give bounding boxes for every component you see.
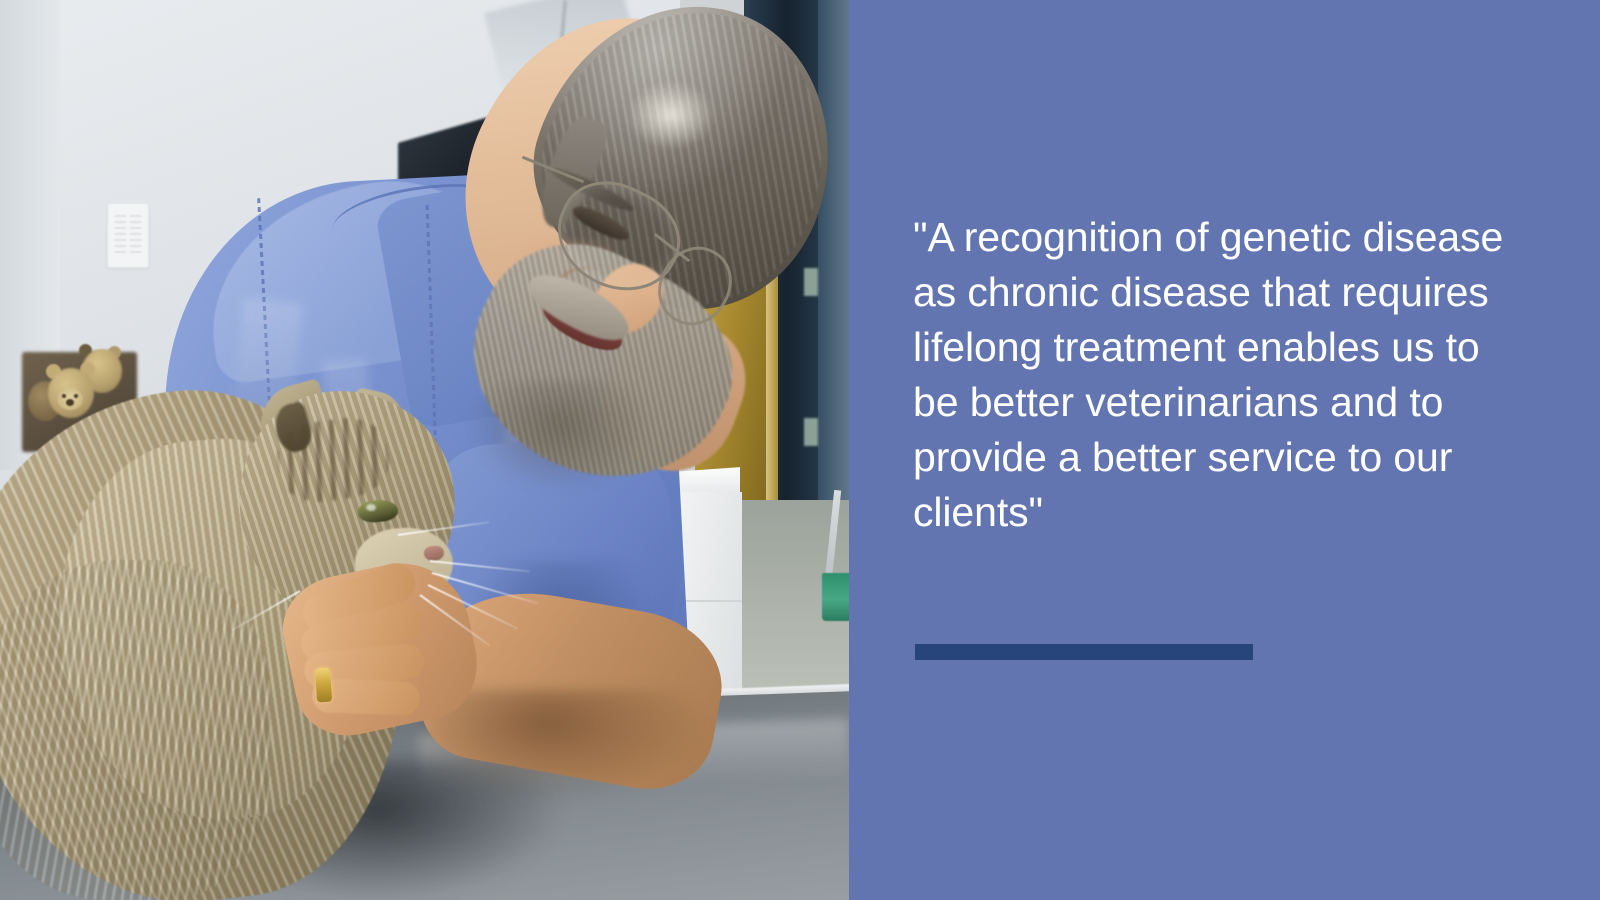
door-hinge: [804, 418, 818, 446]
forehead-highlight: [626, 80, 716, 150]
light-switch-plate: [107, 203, 149, 268]
slide-canvas: "A recognition of genetic disease as chr…: [0, 0, 1600, 900]
quote-panel: "A recognition of genetic disease as chr…: [849, 0, 1600, 900]
chin-shadow: [470, 380, 650, 490]
photo-panel: [0, 0, 849, 900]
cat-fur-texture: [0, 560, 270, 900]
forearm-shadow: [420, 690, 700, 800]
broom-head: [822, 573, 849, 621]
door-hinge: [804, 268, 818, 296]
teddy-bear-nose: [66, 399, 74, 406]
cat-eye-highlight: [366, 504, 376, 511]
quote-divider-bar: [915, 644, 1253, 660]
quote-text: "A recognition of genetic disease as chr…: [913, 210, 1523, 540]
wedding-ring: [315, 668, 332, 703]
veterinary-clinic-photo: [0, 0, 849, 900]
door-frame-highlight: [818, 0, 849, 560]
